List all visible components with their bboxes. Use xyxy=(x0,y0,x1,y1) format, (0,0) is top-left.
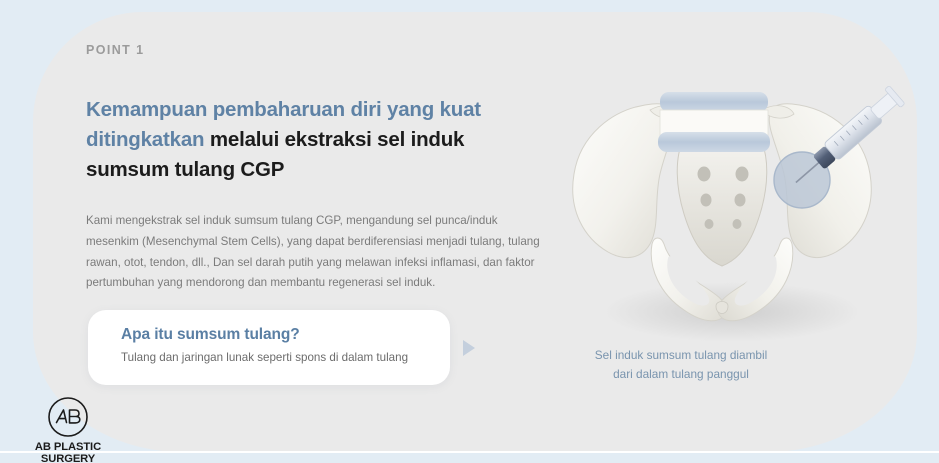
text-column: POINT 1 Kemampuan pembaharuan diri yang … xyxy=(86,44,556,294)
illustration-caption: Sel induk sumsum tulang diambil dari dal… xyxy=(556,346,806,384)
caption-line-1: Sel induk sumsum tulang diambil xyxy=(595,348,767,362)
ab-monogram-icon xyxy=(47,396,89,438)
page-title: Kemampuan pembaharuan diri yang kuat dit… xyxy=(86,95,506,186)
sacrum xyxy=(677,132,767,266)
left-iliac-wing xyxy=(573,104,675,258)
faq-question: Apa itu sumsum tulang? xyxy=(121,325,450,346)
brand-name: AB PLASTIC SURGERY xyxy=(8,441,128,463)
faq-answer: Tulang dan jaringan lunak seperti spons … xyxy=(121,350,450,366)
brand-logo: AB PLASTIC SURGERY ABSOLUTE BEAUTY xyxy=(8,396,128,463)
caption-line-2: dari dalam tulang panggul xyxy=(613,367,749,381)
point-eyebrow-label: POINT 1 xyxy=(86,44,556,57)
pelvis-bone-marrow-extraction-illustration xyxy=(556,62,906,352)
bottom-strip xyxy=(0,453,939,463)
faq-card[interactable]: Apa itu sumsum tulang? Tulang dan jaring… xyxy=(88,310,450,385)
slide-stage: POINT 1 Kemampuan pembaharuan diri yang … xyxy=(0,0,939,463)
qa-row: Apa itu sumsum tulang? Tulang dan jaring… xyxy=(88,310,475,385)
play-triangle-icon[interactable] xyxy=(463,340,475,356)
pubic-symphysis xyxy=(716,302,728,314)
body-paragraph: Kami mengekstrak sel induk sumsum tulang… xyxy=(86,211,548,294)
